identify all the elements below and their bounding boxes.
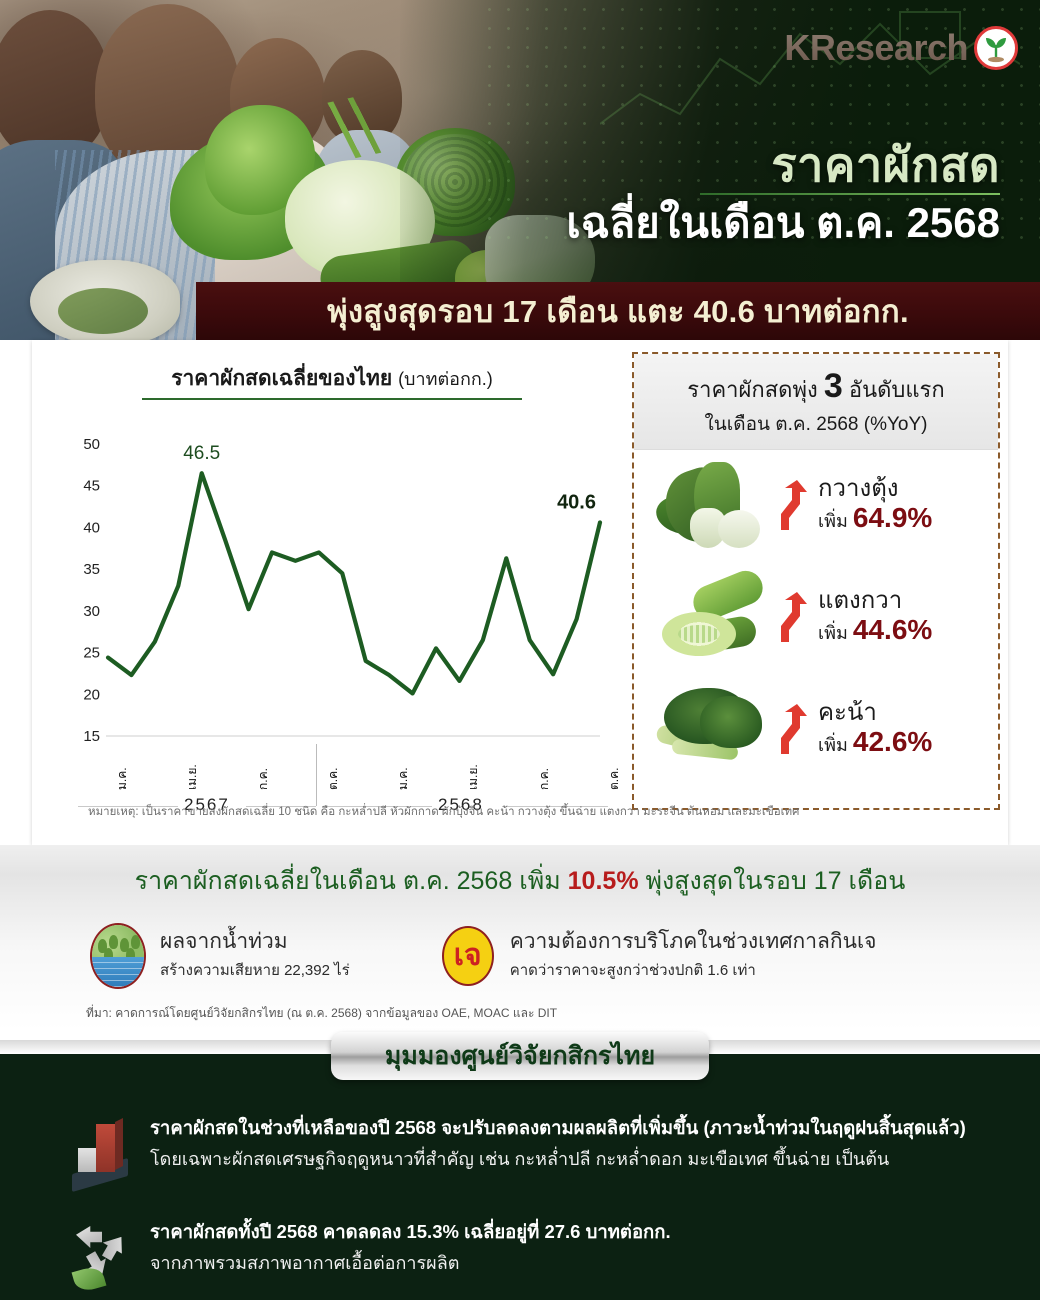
x-axis-label-5: เม.ย. bbox=[464, 764, 483, 790]
x-axis-label-3: ต.ค. bbox=[324, 768, 343, 791]
svg-text:35: 35 bbox=[83, 561, 100, 578]
top3-heading-suffix: อันดับแรก bbox=[849, 377, 945, 402]
svg-text:25: 25 bbox=[83, 645, 100, 662]
chart-x-axis: ม.ค.เม.ย.ก.ค.ต.ค.ม.ค.เม.ย.ก.ค.ต.ค. bbox=[78, 744, 608, 804]
outlook-item-2-line1: ราคาผักสดทั้งปี 2568 คาดลดลง 15.3% เฉลี่… bbox=[150, 1220, 671, 1245]
top3-header: ราคาผักสดพุ่ง 3 อันดับแรก ในเดือน ต.ค. 2… bbox=[634, 354, 998, 450]
arrow-up-icon-3 bbox=[770, 704, 814, 756]
summary-band: ราคาผักสดเฉลี่ยในเดือน ต.ค. 2568 เพิ่ม 1… bbox=[0, 845, 1040, 1030]
bok-choy-icon bbox=[650, 456, 770, 556]
chart-title-unit: (บาทต่อกก.) bbox=[398, 369, 493, 389]
svg-text:30: 30 bbox=[83, 603, 100, 620]
svg-text:15: 15 bbox=[83, 728, 100, 745]
top3-prefix-3: เพิ่ม bbox=[818, 735, 848, 755]
top3-name-2: แตงกวา bbox=[818, 588, 990, 614]
flood-icon bbox=[90, 923, 146, 989]
kresearch-logo: KResearch bbox=[784, 26, 1018, 70]
top3-heading-number: 3 bbox=[824, 367, 843, 405]
top3-item-2: แตงกวา เพิ่ม 44.6% bbox=[634, 562, 998, 674]
top3-prefix-1: เพิ่ม bbox=[818, 511, 848, 531]
chart-title: ราคาผักสดเฉลี่ยของไทย (บาทต่อกก.) bbox=[32, 340, 632, 395]
band-drivers: ผลจากน้ำท่วม สร้างความเสียหาย 22,392 ไร่… bbox=[0, 901, 1040, 989]
hero-subbar: พุ่งสูงสุดรอบ 17 เดือน แตะ 40.6 บาทต่อกก… bbox=[196, 282, 1040, 340]
source-note: ที่มา: คาดการณ์โดยศูนย์วิจัยกสิกรไทย (ณ … bbox=[86, 1004, 557, 1023]
x-axis-label-2: ก.ค. bbox=[254, 768, 273, 790]
driver-flood-title: ผลจากน้ำท่วม bbox=[160, 930, 350, 954]
outlook-tab-label: มุมมองศูนย์วิจัยกสิกรไทย bbox=[385, 1036, 655, 1076]
driver-flood: ผลจากน้ำท่วม สร้างความเสียหาย 22,392 ไร่ bbox=[90, 923, 350, 989]
chart-title-main: ราคาผักสดเฉลี่ยของไทย bbox=[171, 367, 392, 390]
vegetarian-festival-jay-icon: เจ bbox=[440, 923, 496, 989]
arrow-up-icon-1 bbox=[770, 480, 814, 532]
chart-plot-area: 152025303540455046.540.6 bbox=[78, 414, 608, 744]
x-axis-label-6: ก.ค. bbox=[535, 768, 554, 790]
svg-text:46.5: 46.5 bbox=[183, 443, 220, 464]
outlook-item-2-line2: จากภาพรวมสภาพอากาศเอื้อต่อการผลิต bbox=[150, 1250, 671, 1276]
outlook-item-1-line2: โดยเฉพาะผักสดเศรษฐกิจฤดูหนาวที่สำคัญ เช่… bbox=[150, 1146, 966, 1172]
svg-text:40: 40 bbox=[83, 519, 100, 536]
chart-card: ราคาผักสดเฉลี่ยของไทย (บาทต่อกก.) 152025… bbox=[32, 340, 1008, 845]
shopping-bag-icon bbox=[30, 260, 180, 340]
hero-title-block: ราคาผักสด เฉลี่ยในเดือน ต.ค. 2568 bbox=[566, 140, 1000, 248]
svg-text:40.6: 40.6 bbox=[557, 491, 596, 513]
logo-wordmark: KResearch bbox=[784, 27, 968, 69]
svg-text:20: 20 bbox=[83, 686, 100, 703]
top3-subheading: ในเดือน ต.ค. 2568 (%YoY) bbox=[634, 409, 998, 439]
top3-heading: ราคาผักสดพุ่ง 3 อันดับแรก bbox=[634, 366, 998, 407]
svg-text:45: 45 bbox=[83, 478, 100, 495]
hero-subbar-text: พุ่งสูงสุดรอบ 17 เดือน แตะ 40.6 บาทต่อกก… bbox=[327, 286, 909, 336]
chart-panel: ราคาผักสดเฉลี่ยของไทย (บาทต่อกก.) 152025… bbox=[32, 340, 632, 845]
top3-item-3: คะน้า เพิ่ม 42.6% bbox=[634, 674, 998, 786]
top3-heading-prefix: ราคาผักสดพุ่ง bbox=[687, 377, 817, 402]
chart-footnote: หมายเหตุ: เป็นราคาขายส่งผักสดเฉลี่ย 10 ช… bbox=[88, 803, 799, 821]
x-axis-label-0: ม.ค. bbox=[113, 767, 132, 790]
chinese-kale-icon bbox=[650, 680, 770, 780]
hero-title-line1: ราคาผักสด bbox=[566, 140, 1000, 189]
hero-title-line2: เฉลี่ยในเดือน ต.ค. 2568 bbox=[566, 199, 1000, 247]
band-headline-pct: 10.5% bbox=[568, 867, 639, 895]
band-headline-pre: ราคาผักสดเฉลี่ยในเดือน ต.ค. 2568 เพิ่ม bbox=[135, 867, 561, 895]
outlook-tab: มุมมองศูนย์วิจัยกสิกรไทย bbox=[331, 1032, 709, 1080]
top3-value-3: 42.6% bbox=[853, 726, 932, 757]
driver-jay-detail: คาดว่าราคาจะสูงกว่าช่วงปกติ 1.6 เท่า bbox=[510, 958, 877, 982]
driver-flood-detail: สร้างความเสียหาย 22,392 ไร่ bbox=[160, 958, 350, 982]
top3-name-1: กวางตุ้ง bbox=[818, 476, 990, 502]
x-axis-label-1: เม.ย. bbox=[183, 764, 202, 790]
x-axis-label-4: ม.ค. bbox=[394, 767, 413, 790]
outlook-footer: มุมมองศูนย์วิจัยกสิกรไทย ราคาผักสดในช่วง… bbox=[0, 1040, 1040, 1300]
top3-value-1: 64.9% bbox=[853, 502, 932, 533]
x-axis-label-7: ต.ค. bbox=[605, 768, 624, 791]
arrow-up-icon-2 bbox=[770, 592, 814, 644]
top3-item-1: กวางตุ้ง เพิ่ม 64.9% bbox=[634, 450, 998, 562]
outlook-item-1: ราคาผักสดในช่วงที่เหลือของปี 2568 จะปรับ… bbox=[70, 1116, 1040, 1192]
chart-title-underline bbox=[142, 398, 522, 400]
band-headline-post: พุ่งสูงสุดในรอบ 17 เดือน bbox=[646, 867, 906, 895]
year-divider bbox=[316, 744, 317, 806]
recycle-leaf-icon bbox=[70, 1220, 132, 1296]
outlook-item-2: ราคาผักสดทั้งปี 2568 คาดลดลง 15.3% เฉลี่… bbox=[70, 1220, 1040, 1296]
top3-panel: ราคาผักสดพุ่ง 3 อันดับแรก ในเดือน ต.ค. 2… bbox=[632, 352, 1000, 810]
top3-name-3: คะน้า bbox=[818, 700, 990, 726]
svg-text:50: 50 bbox=[83, 436, 100, 453]
driver-jay-title: ความต้องการบริโภคในช่วงเทศกาลกินเจ bbox=[510, 930, 877, 954]
bar-chart-3d-icon bbox=[70, 1116, 132, 1192]
band-headline: ราคาผักสดเฉลี่ยในเดือน ต.ค. 2568 เพิ่ม 1… bbox=[0, 845, 1040, 901]
shopper-head-1 bbox=[0, 10, 110, 160]
driver-jay-festival: เจ ความต้องการบริโภคในช่วงเทศกาลกินเจ คา… bbox=[440, 923, 877, 989]
sprout-in-circle-icon bbox=[974, 26, 1018, 70]
title-underline bbox=[700, 193, 1000, 195]
top3-prefix-2: เพิ่ม bbox=[818, 623, 848, 643]
top3-value-2: 44.6% bbox=[853, 614, 932, 645]
cucumber-icon bbox=[650, 568, 770, 668]
outlook-item-1-line1: ราคาผักสดในช่วงที่เหลือของปี 2568 จะปรับ… bbox=[150, 1116, 966, 1141]
